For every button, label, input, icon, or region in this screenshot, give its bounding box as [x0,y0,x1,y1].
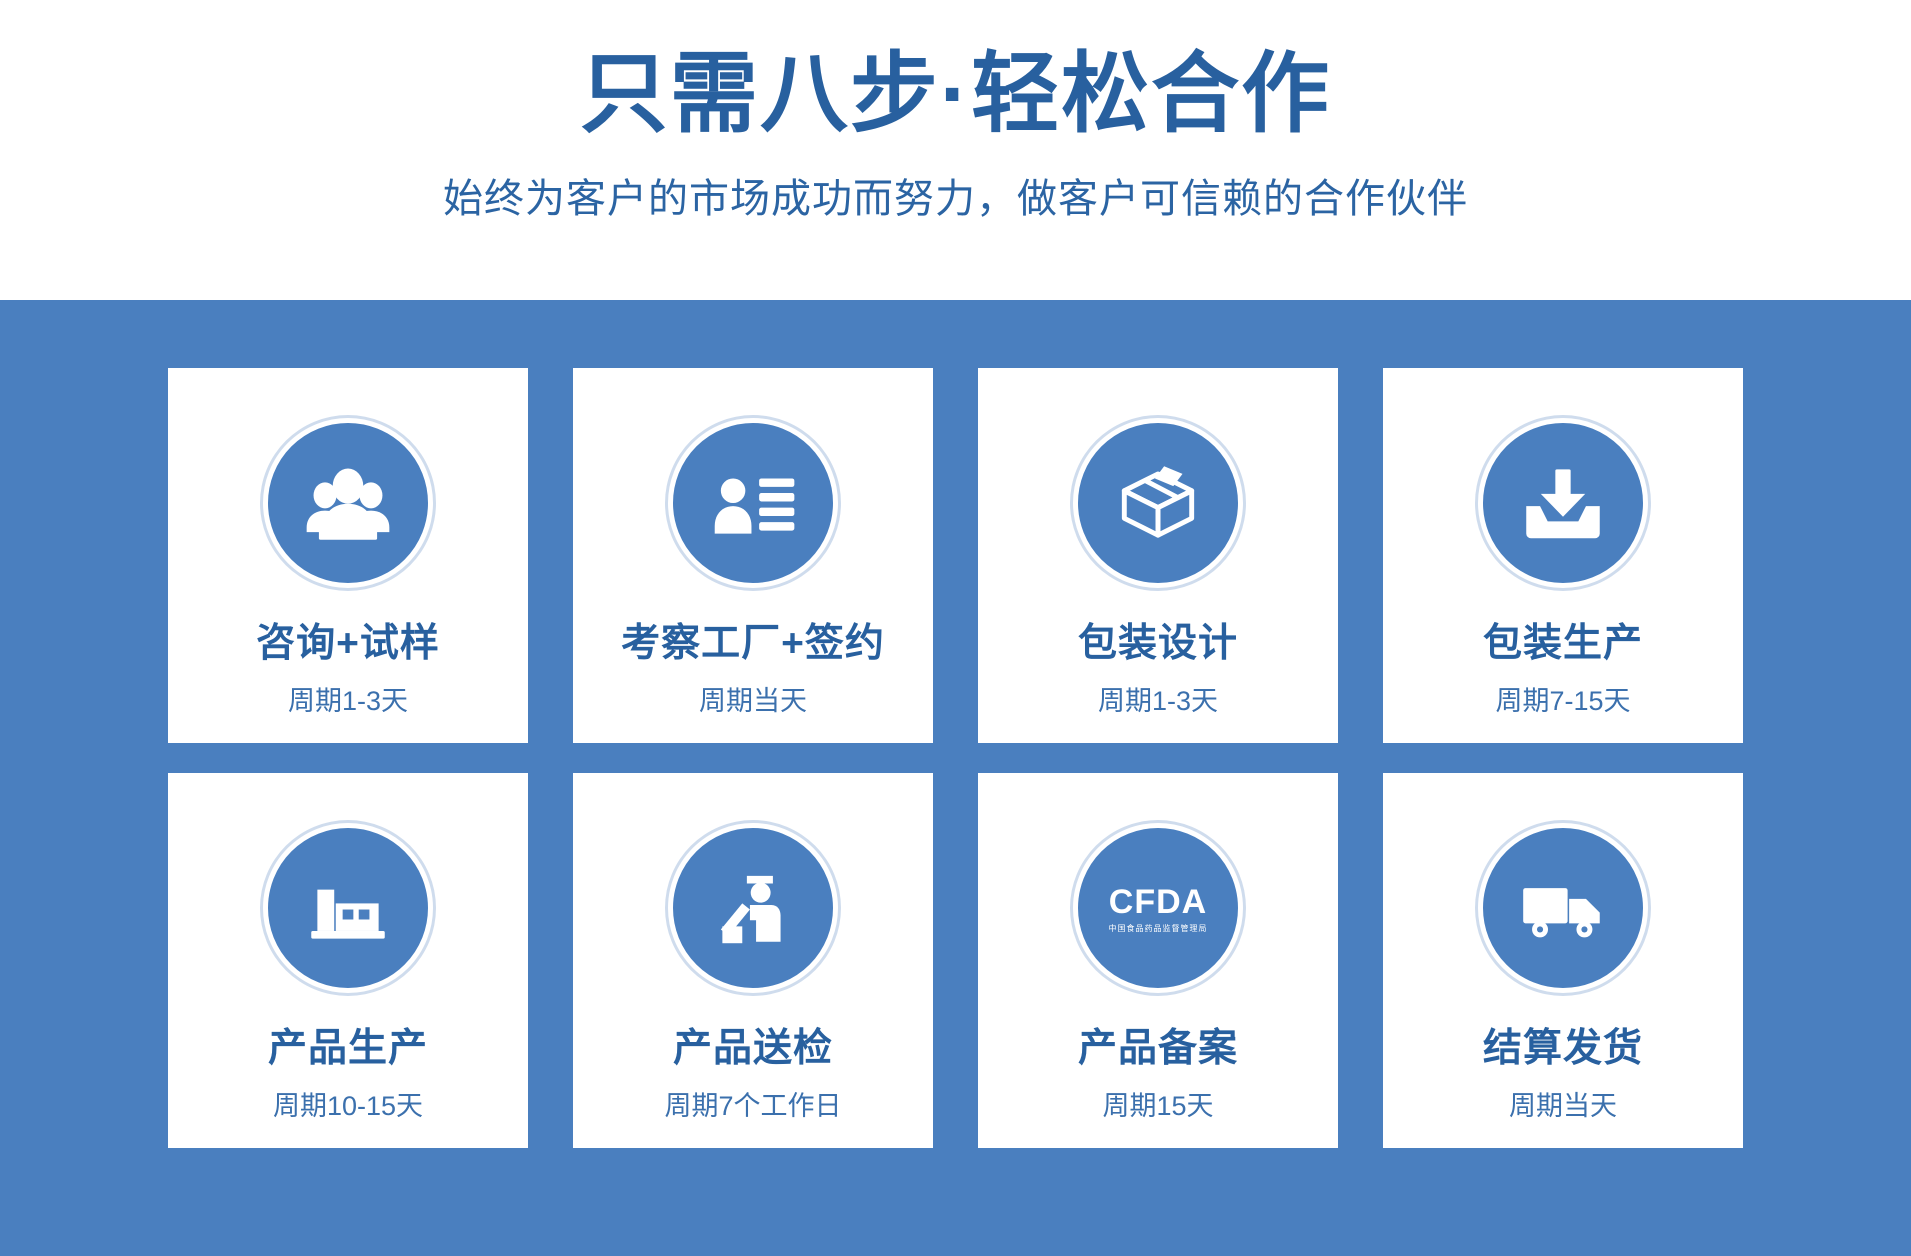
step-title: 产品备案 [1078,1027,1238,1072]
step-title: 考察工厂+签约 [621,622,885,667]
step-card-4[interactable]: 包装生产 周期7-15天 [1383,368,1743,743]
delivery-truck-icon [1478,823,1648,993]
cfda-logo-subtext: 中国食品药品监督管理局 [1109,923,1208,934]
factory-icon [263,823,433,993]
page-header: 只需八步·轻松合作 始终为客户的市场成功而努力，做客户可信赖的合作伙伴 [0,0,1911,300]
step-cycle: 周期当天 [1509,1084,1617,1123]
cfda-logo-icon: CFDA 中国食品药品监督管理局 [1073,823,1243,993]
step-cycle: 周期1-3天 [288,679,408,718]
step-cycle: 周期当天 [699,679,807,718]
step-card-5[interactable]: 产品生产 周期10-15天 [168,773,528,1148]
step-cycle: 周期7个工作日 [664,1084,841,1123]
users-group-icon [263,418,433,588]
step-card-2[interactable]: 考察工厂+签约 周期当天 [573,368,933,743]
contract-person-icon [668,418,838,588]
step-title: 包装生产 [1483,622,1643,667]
page-title: 只需八步·轻松合作 [580,48,1331,140]
steps-panel: 咨询+试样 周期1-3天 考察工厂+签约 周期当天 [0,300,1911,1256]
step-title: 咨询+试样 [256,622,440,667]
cfda-logo-text: CFDA [1109,883,1207,922]
step-card-3[interactable]: 包装设计 周期1-3天 [978,368,1338,743]
step-cycle: 周期7-15天 [1495,679,1630,718]
step-title: 产品送检 [673,1027,833,1072]
step-cycle: 周期10-15天 [273,1084,423,1123]
step-card-6[interactable]: 产品送检 周期7个工作日 [573,773,933,1148]
step-title: 结算发货 [1483,1027,1643,1072]
open-box-icon [1073,418,1243,588]
inspector-icon [668,823,838,993]
step-cycle: 周期1-3天 [1098,679,1218,718]
step-card-1[interactable]: 咨询+试样 周期1-3天 [168,368,528,743]
step-card-8[interactable]: 结算发货 周期当天 [1383,773,1743,1148]
step-title: 包装设计 [1078,622,1238,667]
steps-grid: 咨询+试样 周期1-3天 考察工厂+签约 周期当天 [168,368,1743,1148]
page-subtitle: 始终为客户的市场成功而努力，做客户可信赖的合作伙伴 [443,166,1468,224]
download-tray-icon [1478,418,1648,588]
step-cycle: 周期15天 [1102,1084,1213,1123]
step-card-7[interactable]: CFDA 中国食品药品监督管理局 产品备案 周期15天 [978,773,1338,1148]
step-title: 产品生产 [268,1027,428,1072]
